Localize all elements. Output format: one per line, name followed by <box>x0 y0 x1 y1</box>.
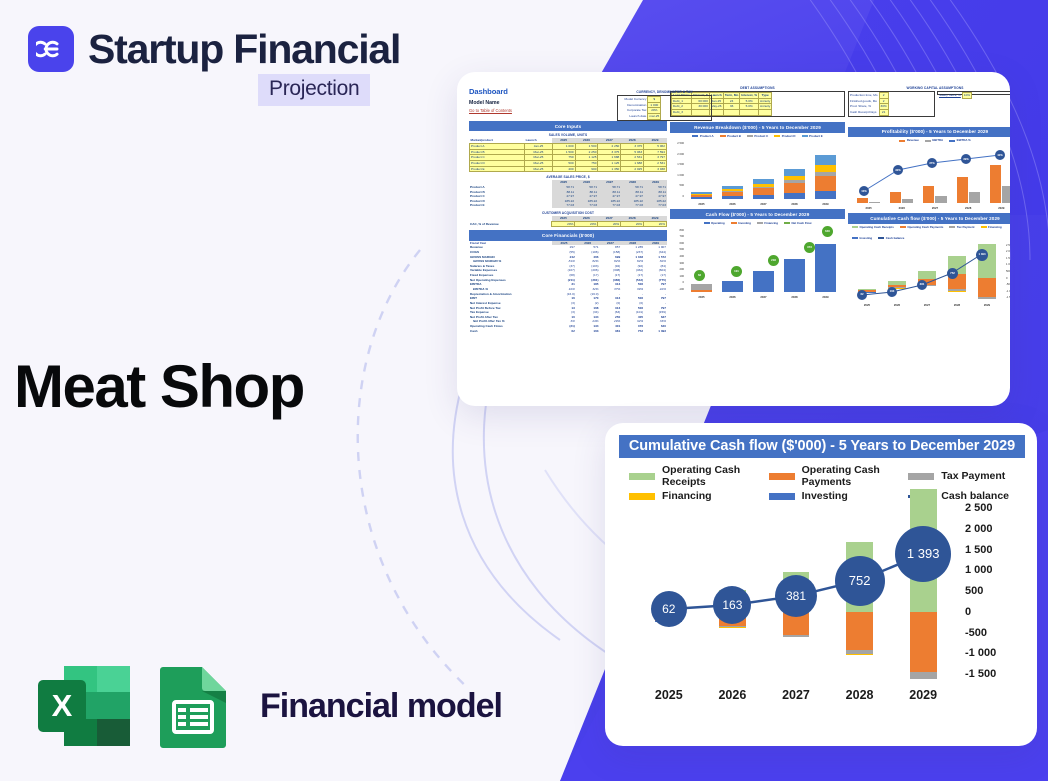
table-row: Prod. Share, %30% <box>849 104 888 110</box>
segment-financing <box>719 627 746 628</box>
bar-2028 <box>784 229 804 292</box>
y-tick: 1 500 <box>965 544 993 556</box>
chart-legend: Operating Cash Receipts Operating Cash P… <box>848 224 1010 242</box>
y-axis: 8007006005004003002001000-100 <box>670 229 684 292</box>
avg-price-table: 2025 2026 2027 2028 2029 Product A58.715… <box>469 180 667 208</box>
cumulative-cashflow-mini-title: Cumulative Cash flow ($'000) - 5 Years t… <box>848 213 1010 223</box>
google-sheets-icon <box>154 662 232 750</box>
file-type-row: X Financial model <box>34 662 502 750</box>
safety-stock-table: Safety Stock, %10% <box>937 91 1010 95</box>
cumulative-cashflow-mini-chart: Operating Cash Receipts Operating Cash P… <box>848 224 1010 308</box>
y-tick: 1 000 <box>965 564 993 576</box>
data-label-2025: 62 <box>694 270 705 281</box>
table-row: Production time, Mo2 <box>849 92 888 98</box>
legend-item-tax-payment: Tax Payment <box>908 464 1027 488</box>
legend-item: Financing <box>981 225 1002 230</box>
y-tick: 0 <box>965 606 971 618</box>
x-label-2025: 2025 <box>637 688 701 702</box>
legend-item: Financing <box>757 221 778 226</box>
table-row: Model Currency$ <box>618 96 661 102</box>
brand-subtitle: Projection <box>258 74 370 106</box>
x-label-2027: 2027 <box>764 688 828 702</box>
x-axis: 2025 2026 2027 2028 2029 <box>637 688 955 702</box>
legend-swatch <box>908 473 934 480</box>
legend-item-financing: Financing <box>629 490 769 502</box>
bar-2025 <box>691 142 711 199</box>
legend-item: EBITDA <box>925 138 943 143</box>
core-financials-table: Fiscal Year 2025 2026 2027 2028 2029 Rev… <box>469 241 667 334</box>
table-row: CAC, % of Revenue20%20%20%20%20% <box>469 221 667 227</box>
legend-swatch <box>629 493 655 500</box>
currency-assumptions-table: Model Currency$ Denomination1 000 Corpor… <box>617 95 712 121</box>
x-axis: 2025 2026 2027 2028 2029 <box>686 202 841 206</box>
cash-balance-label-2027: 381 <box>775 575 817 617</box>
table-row: Safety Stock, %10% <box>938 92 972 98</box>
link-e-icon <box>28 26 74 72</box>
legend-item: Operating Cash Receipts <box>852 225 894 230</box>
legend-item: Operating Cash Payments <box>900 225 943 230</box>
y-tick: 2 000 <box>965 523 993 535</box>
revenue-breakdown-chart: Product A Product B Product C Product D … <box>670 133 845 207</box>
bar-2025 <box>691 229 711 292</box>
chart-legend: Operating Cash Receipts Operating Cash P… <box>615 458 1029 504</box>
working-capital-table: Production time, Mo2 Finished goods, Mo2… <box>848 91 935 117</box>
x-label-2026: 2026 <box>701 688 765 702</box>
bar-2028 <box>784 142 804 199</box>
legend-swatch <box>629 473 655 480</box>
x-label-2029: 2029 <box>891 688 955 702</box>
core-inputs-header: Core Inputs <box>469 121 667 131</box>
profitability-chart: Revenue EBITDA EBITDA % <box>848 137 1010 211</box>
legend-item: Product C <box>747 134 768 139</box>
cash-balance-label-2025: 62 <box>651 591 687 627</box>
dashboard-left-column: Dashboard Model Name Go to Table of Cont… <box>469 86 667 333</box>
cash-balance-2027: 381 <box>917 280 927 290</box>
bars-and-line: 621633817521 393 <box>637 508 955 674</box>
link-e-glyph <box>36 34 66 64</box>
cumulative-cashflow-card[interactable]: Cumulative Cash flow ($'000) - 5 Years t… <box>605 423 1037 746</box>
y-axis: 2 5002 0001 5001 0005000-500-1 000-1 500 <box>1006 244 1010 301</box>
microsoft-excel-icon: X <box>34 662 134 750</box>
data-label-2027: 218 <box>768 255 779 266</box>
cash-balance-label-2028: 752 <box>835 556 885 606</box>
bars-group <box>686 229 841 292</box>
data-label-2026: 101 <box>731 266 742 277</box>
ebitda-pct-line <box>848 144 1010 210</box>
legend-item: Product B <box>720 134 741 139</box>
segment-operating-cash-payments <box>846 612 873 650</box>
legend-item: Investing <box>852 236 872 241</box>
chart-title: Cumulative Cash flow ($'000) - 5 Years t… <box>619 435 1025 458</box>
chart-plot-area: 621633817521 393 2 5002 0001 5001 000500… <box>615 508 1029 708</box>
file-type-label: Financial model <box>260 687 502 726</box>
segment-operating-cash-payments <box>910 612 937 672</box>
bars-group <box>686 142 841 199</box>
legend-item: Operating <box>704 221 725 226</box>
segment-tax-payment <box>783 635 810 638</box>
legend-item: Product A <box>692 134 713 139</box>
bar-2029 <box>815 229 835 292</box>
legend-item-operating-cash-receipts: Operating Cash Receipts <box>629 464 769 488</box>
core-financials-header: Core Financials ($'000) <box>469 230 667 240</box>
cash-balance-label-2029: 1 393 <box>895 526 951 582</box>
cash-balance-2028: 752 <box>947 268 958 279</box>
y-tick: -1 500 <box>965 668 996 680</box>
brand-logo: Startup Financial <box>28 26 400 72</box>
y-axis: 2 5002 0001 5001 0005000-500-1 000-1 500 <box>957 502 1023 674</box>
svg-text:X: X <box>52 688 73 723</box>
product-name: Meat Shop <box>14 352 304 421</box>
brand-title: Startup Financial <box>88 29 400 70</box>
cash-balance-2029: 1 393 <box>976 249 988 261</box>
bar-2026 <box>722 229 742 292</box>
sales-volume-table: Market/product Launch 2025 2026 2027 202… <box>469 138 667 172</box>
legend-item: Cash balance <box>878 236 904 241</box>
bar-2029 <box>815 142 835 199</box>
cash-balance-2026: 163 <box>887 287 897 297</box>
legend-swatch <box>769 493 795 500</box>
x-axis: 2025 2026 2027 2028 2029 <box>852 206 1010 210</box>
table-row: Product E77.0377.0377.0377.0377.03 <box>469 203 667 208</box>
legend-item: Investing <box>731 221 751 226</box>
table-row: Finished goods, Mo2 <box>849 98 888 104</box>
cash-flow-title: Cash Flow ($'000) - 5 Years to December … <box>670 209 845 219</box>
x-label-2028: 2028 <box>828 688 892 702</box>
y-tick: -500 <box>965 627 987 639</box>
revenue-breakdown-title: Revenue Breakdown ($'000) - 5 Years to D… <box>670 122 845 132</box>
legend-item-operating-cash-payments: Operating Cash Payments <box>769 464 909 488</box>
cash-flow-chart: Operating Investing Financing Net Cash F… <box>670 219 845 299</box>
cac-table: 2025 2026 2027 2028 2029 CAC, % of Reven… <box>469 216 667 227</box>
cash-balance-label-2026: 163 <box>713 586 751 624</box>
y-tick: -1 000 <box>965 647 996 659</box>
legend-swatch <box>769 473 795 480</box>
bar-2026 <box>722 142 742 199</box>
chart-legend: Product A Product B Product C Product D … <box>670 133 845 141</box>
dashboard-middle-column: DEBT ASSUMPTIONS Loan Name Amount, $ Lau… <box>670 86 845 333</box>
legend-item: Tax Payment <box>949 225 974 230</box>
currency-assumptions-block: CURRENCY, DENOMINATOR & TAX Model Curren… <box>617 90 712 122</box>
dashboard-right-column: WORKING CAPITAL ASSUMPTIONS Production t… <box>848 86 1010 333</box>
legend-item: Product E <box>802 134 823 139</box>
legend-item: Revenue <box>899 138 919 143</box>
cash-balance-2025: 62 <box>857 290 867 300</box>
data-label-2028: 373 <box>804 242 815 253</box>
profitability-title: Profitability ($'000) - 5 Years to Decem… <box>848 127 1010 137</box>
y-tick: 2 500 <box>965 502 993 514</box>
segment-tax-payment <box>910 672 937 679</box>
chart-legend: Operating Investing Financing Net Cash F… <box>670 219 845 227</box>
y-axis: 2 5002 0001 5001 0005000 <box>670 142 684 199</box>
x-axis: 2025 2026 2027 2028 2029 <box>852 303 1002 307</box>
bar-2027 <box>753 142 773 199</box>
data-label-2029: 640 <box>822 226 833 237</box>
legend-item: EBITDA % <box>949 138 971 143</box>
chart-legend: Revenue EBITDA EBITDA % <box>848 137 1010 145</box>
legend-item: Product D <box>774 134 795 139</box>
table-row: Product EMar-254009001 3502 0253 038 <box>470 166 667 172</box>
x-axis: 2025 2026 2027 2028 2029 <box>686 295 841 299</box>
table-row: Launch datemar-25 <box>618 113 661 119</box>
dashboard-screenshot-card[interactable]: Dashboard Model Name Go to Table of Cont… <box>457 72 1010 406</box>
table-row: Cash621633817521 393 <box>469 329 667 334</box>
legend-item: Net Cash Flow <box>784 221 811 226</box>
y-tick: 500 <box>965 585 983 597</box>
legend-item-investing: Investing <box>769 490 909 502</box>
table-row: Cash Receipt Days21 <box>849 109 888 115</box>
